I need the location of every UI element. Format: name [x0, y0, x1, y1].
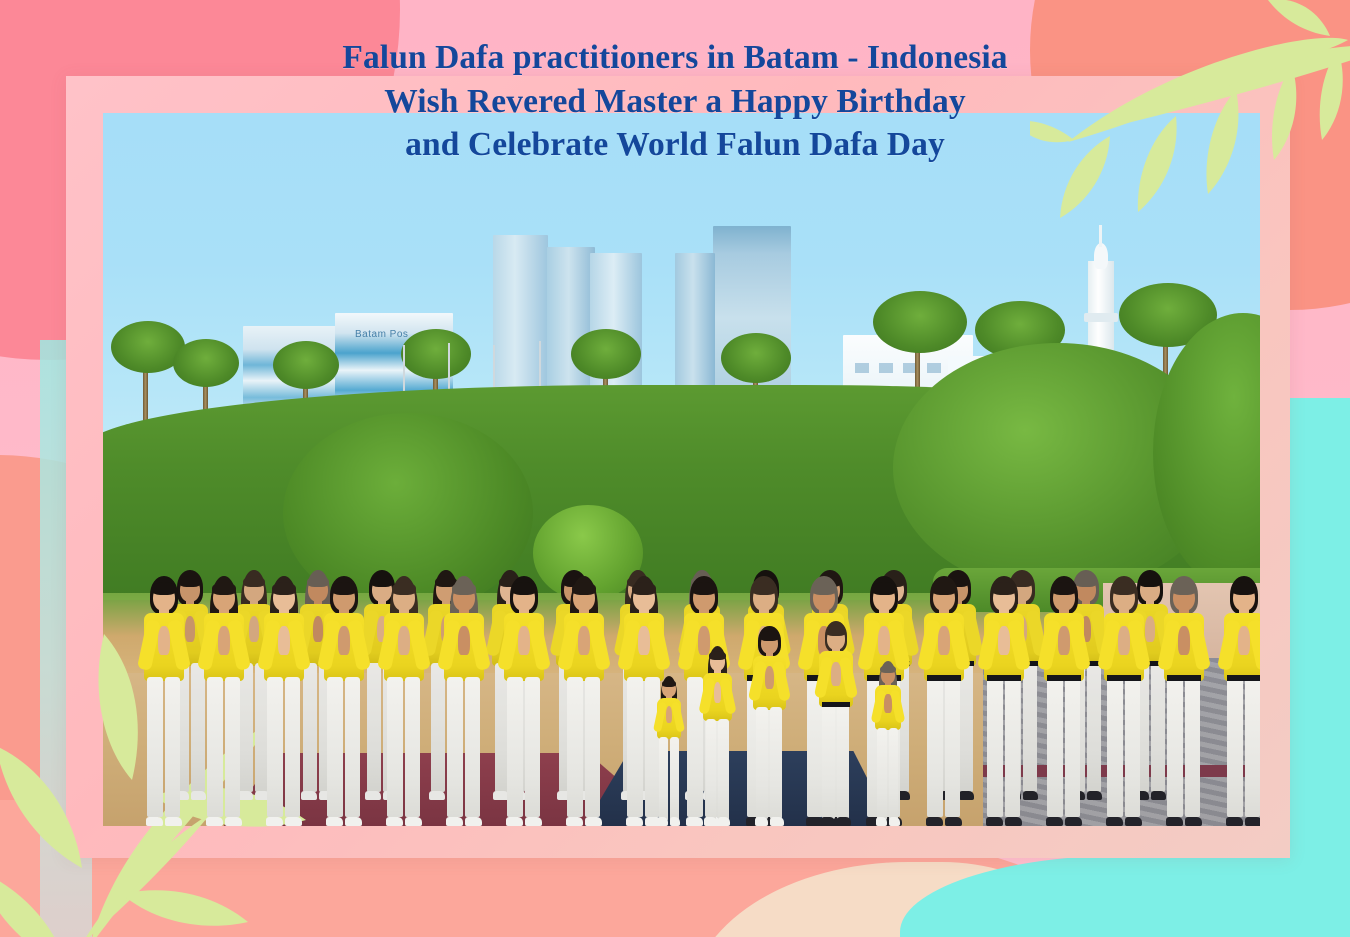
hair-fringe: [572, 582, 596, 595]
heshi-hands: [398, 626, 409, 655]
trouser-leg-left: [507, 677, 522, 817]
belt: [1227, 675, 1260, 681]
belt: [1167, 675, 1202, 681]
shoe-right: [405, 817, 422, 826]
heshi-hands: [714, 682, 722, 703]
shoe-left: [266, 817, 283, 826]
shoe-left: [386, 817, 403, 826]
shoe-right: [285, 817, 302, 826]
shoe-right: [670, 817, 680, 826]
trouser-leg-right: [405, 677, 420, 817]
child-practitioner: [751, 626, 788, 826]
heshi-hands: [765, 666, 774, 689]
heshi-hands: [1118, 626, 1129, 655]
trouser-leg-left: [387, 677, 402, 817]
practitioner: [561, 576, 607, 826]
trouser-leg-left: [1107, 677, 1122, 817]
heshi-hands: [458, 626, 469, 655]
poster-title: Falun Dafa practitioners in Batam - Indo…: [0, 36, 1350, 167]
title-line-3: and Celebrate World Falun Dafa Day: [0, 123, 1350, 167]
trouser-leg-left: [367, 663, 381, 792]
mosque-minaret-balcony: [1084, 313, 1118, 322]
hair-fringe: [392, 582, 416, 595]
hair-fringe: [692, 582, 716, 595]
shoe-left: [365, 791, 381, 800]
hair-fringe: [760, 631, 779, 641]
hair-fringe: [752, 582, 776, 595]
trouser-leg-left: [627, 677, 642, 817]
hair-fringe: [872, 582, 896, 595]
hair-fringe: [880, 665, 896, 673]
palm-crown: [721, 333, 791, 383]
practitioner: [141, 576, 187, 826]
trouser-leg-right: [345, 677, 360, 817]
hair-fringe: [332, 582, 356, 595]
hair-fringe: [1232, 582, 1256, 595]
shoe-right: [1185, 817, 1202, 826]
trouser-leg-left: [1047, 677, 1062, 817]
hair-fringe: [1172, 582, 1196, 595]
hair-fringe: [662, 680, 677, 688]
trouser-leg-right: [1005, 677, 1020, 817]
shoe-left: [1046, 817, 1063, 826]
hair-fringe: [826, 626, 846, 636]
heshi-hands: [158, 626, 169, 655]
child-practitioner: [701, 646, 734, 826]
trouser-leg-left: [447, 677, 462, 817]
practitioner-group: [103, 545, 1260, 826]
shoe-right: [837, 817, 851, 826]
trouser-leg-right: [718, 719, 729, 820]
trouser-leg-right: [1185, 677, 1200, 817]
belt: [1107, 675, 1142, 681]
practitioner: [921, 576, 967, 826]
practitioner: [1101, 576, 1147, 826]
belt: [822, 702, 851, 707]
shoe-left: [506, 817, 523, 826]
shoe-left: [1226, 817, 1243, 826]
hair-fringe: [812, 582, 836, 595]
child-practitioner: [873, 661, 903, 826]
shoe-right: [465, 817, 482, 826]
shoe-right: [889, 817, 900, 826]
shoe-right: [1005, 817, 1022, 826]
practitioner: [441, 576, 487, 826]
shoe-left: [755, 817, 769, 826]
belt: [987, 675, 1022, 681]
practitioner: [1161, 576, 1207, 826]
practitioner: [1221, 576, 1260, 826]
hair-fringe: [512, 582, 536, 595]
shoe-right: [1245, 817, 1260, 826]
heshi-hands: [249, 616, 259, 642]
shoe-left: [986, 817, 1003, 826]
trouser-leg-right: [1065, 677, 1080, 817]
heshi-hands: [578, 626, 589, 655]
trouser-leg-left: [877, 728, 887, 820]
window: [879, 363, 893, 373]
shoe-left: [326, 817, 343, 826]
belt: [1047, 675, 1082, 681]
trouser-leg-left: [756, 707, 768, 819]
practitioner: [261, 576, 307, 826]
shoe-right: [345, 817, 362, 826]
practitioner: [981, 576, 1027, 826]
palm-crown: [873, 291, 967, 353]
title-line-2: Wish Revered Master a Happy Birthday: [0, 80, 1350, 124]
trouser-leg-right: [1245, 677, 1260, 817]
hair-fringe: [1112, 582, 1136, 595]
shoe-left: [206, 817, 223, 826]
heshi-hands: [338, 626, 349, 655]
shoe-right: [1065, 817, 1082, 826]
heshi-hands: [666, 706, 673, 723]
palm-crown: [273, 341, 339, 389]
heshi-hands: [1058, 626, 1069, 655]
heshi-hands: [938, 626, 949, 655]
hair-fringe: [452, 582, 476, 595]
trouser-leg-right: [945, 677, 960, 817]
shoe-right: [165, 817, 182, 826]
heshi-hands: [518, 626, 529, 655]
shoe-left: [821, 817, 835, 826]
shoe-left: [626, 817, 643, 826]
shoe-right: [225, 817, 242, 826]
photo-scene: Batam Pos: [103, 113, 1260, 826]
shoe-left: [876, 817, 887, 826]
belt: [927, 675, 962, 681]
trouser-leg-left: [327, 677, 342, 817]
trouser-leg-right: [525, 677, 540, 817]
shoe-left: [146, 817, 163, 826]
practitioner: [381, 576, 427, 826]
trouser-leg-left: [927, 677, 942, 817]
heshi-hands: [1178, 626, 1189, 655]
heshi-hands: [218, 626, 229, 655]
hair-fringe: [212, 582, 236, 595]
practitioner: [201, 576, 247, 826]
trouser-leg-right: [465, 677, 480, 817]
shoe-right: [1125, 817, 1142, 826]
shoe-right: [718, 817, 730, 826]
practitioner: [321, 576, 367, 826]
hair-fringe: [632, 582, 656, 595]
shoe-right: [585, 817, 602, 826]
trouser-leg-right: [670, 737, 679, 821]
trouser-leg-left: [659, 737, 668, 821]
trouser-leg-right: [1125, 677, 1140, 817]
heshi-hands: [998, 626, 1009, 655]
shoe-right: [945, 817, 962, 826]
hair-fringe: [709, 651, 726, 660]
trouser-leg-right: [225, 677, 240, 817]
palm-crown: [571, 329, 641, 379]
heshi-hands: [1238, 626, 1249, 655]
trouser-leg-right: [837, 704, 850, 819]
trouser-leg-left: [987, 677, 1002, 817]
trouser-leg-left: [267, 677, 282, 817]
hair-fringe: [932, 582, 956, 595]
photograph: Batam Pos: [103, 113, 1260, 826]
trouser-leg-left: [706, 719, 717, 820]
shoe-right: [770, 817, 784, 826]
trouser-leg-left: [822, 704, 835, 819]
heshi-hands: [878, 626, 889, 655]
child-practitioner: [817, 621, 855, 826]
shoe-left: [704, 817, 716, 826]
window: [855, 363, 869, 373]
hair-fringe: [992, 582, 1016, 595]
title-line-1: Falun Dafa practitioners in Batam - Indo…: [0, 36, 1350, 80]
window: [927, 363, 941, 373]
building-sign-batam-pos: Batam Pos: [355, 329, 408, 340]
palm-crown: [173, 339, 239, 387]
trouser-leg-right: [285, 677, 300, 817]
trouser-leg-right: [165, 677, 180, 817]
shoe-left: [658, 817, 668, 826]
heshi-hands: [831, 662, 840, 686]
trouser-leg-right: [770, 707, 782, 819]
heshi-hands: [278, 626, 289, 655]
shoe-left: [566, 817, 583, 826]
mosque-minaret-spire: [1099, 225, 1102, 247]
trouser-leg-left: [207, 677, 222, 817]
trouser-leg-right: [585, 677, 600, 817]
shoe-left: [446, 817, 463, 826]
heshi-hands: [884, 694, 891, 713]
heshi-hands: [638, 626, 649, 655]
hair-fringe: [152, 582, 176, 595]
hair-fringe: [272, 582, 296, 595]
hair-fringe: [1052, 582, 1076, 595]
trouser-leg-left: [1227, 677, 1242, 817]
trouser-leg-left: [567, 677, 582, 817]
trouser-leg-right: [889, 728, 899, 820]
shoe-left: [1106, 817, 1123, 826]
shoe-left: [926, 817, 943, 826]
shoe-left: [1166, 817, 1183, 826]
palm-crown: [401, 329, 471, 379]
trouser-leg-left: [147, 677, 162, 817]
trouser-leg-right: [1087, 663, 1101, 792]
practitioner: [501, 576, 547, 826]
practitioner: [1041, 576, 1087, 826]
child-practitioner: [655, 676, 683, 826]
shoe-right: [525, 817, 542, 826]
trouser-leg-left: [1167, 677, 1182, 817]
poster-canvas: Batam Pos: [0, 0, 1350, 937]
